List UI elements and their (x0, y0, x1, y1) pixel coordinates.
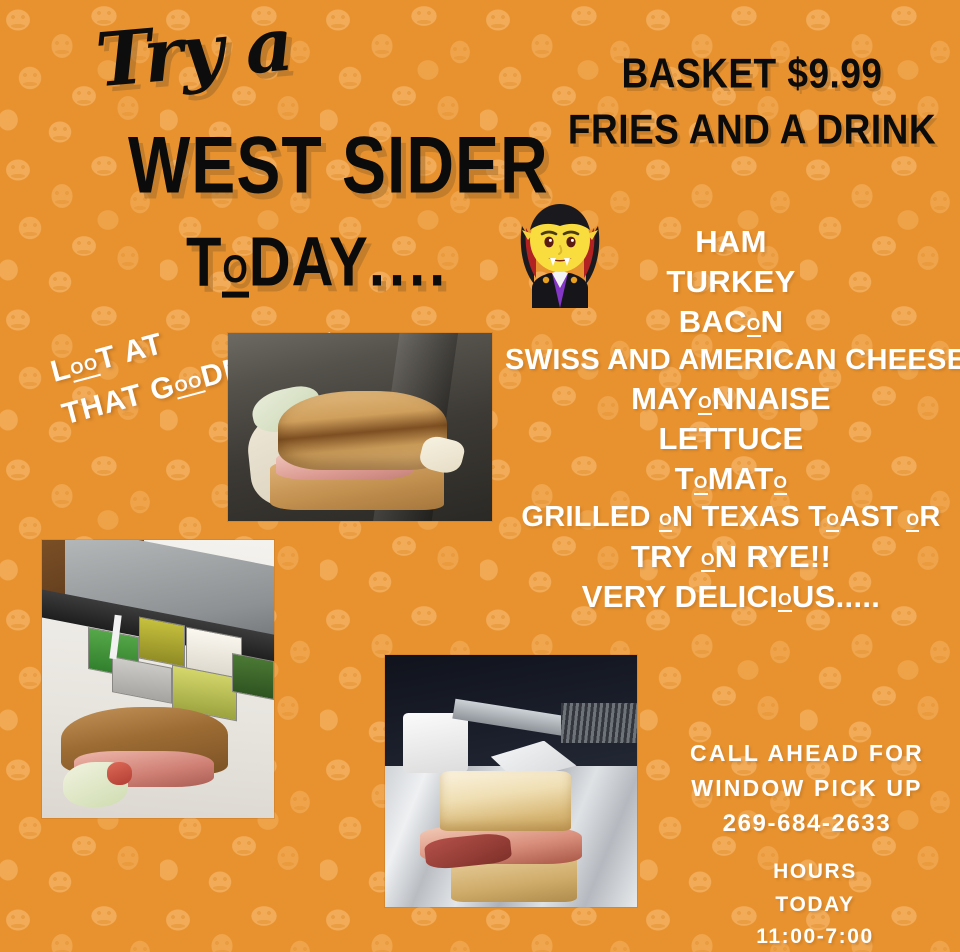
ingredient-item: MAYONNAISE (505, 379, 957, 419)
pan-olives (232, 653, 274, 700)
hours-block: HOURS TODAY 11:00-7:00 (690, 856, 940, 952)
ingredient-item: GRILLED ON TEXAS TOAST OR (505, 499, 957, 536)
pan-banana-peppers (139, 616, 185, 667)
stylised-o-glyph: O (698, 394, 712, 415)
today-ellipsis: .... (369, 222, 449, 302)
hours-title: HOURS (690, 856, 940, 889)
contact-block: CALL AHEAD FOR WINDOW PICK UP 269-684-26… (668, 736, 946, 842)
today-stylised-o: O (222, 249, 248, 298)
call-ahead-line-1: CALL AHEAD FOR (668, 736, 946, 771)
price-basket-line: BASKET $9.99 (560, 46, 944, 102)
photo-grilled-sandwich-on-griddle (228, 333, 492, 521)
ingredient-item: TOMATO (505, 459, 957, 499)
price-block: BASKET $9.99 FRIES AND A DRINK (560, 46, 944, 158)
ingredient-item: BACON (505, 302, 957, 342)
ingredient-item: HAM (505, 222, 957, 262)
ingredient-item: LETTUCE (505, 419, 957, 459)
hours-day: TODAY (690, 889, 940, 922)
ingredient-item: VERY DELICIOUS..... (505, 577, 957, 617)
ingredient-item: TRY ON RYE!! (505, 537, 957, 577)
ingredient-list: HAM TURKEY BACON SWISS AND AMERICAN CHEE… (505, 218, 957, 617)
paper-roll (403, 713, 469, 773)
photo-rye-sandwich-prep-station (42, 540, 274, 818)
ingredient-item: TURKEY (505, 262, 957, 302)
stylised-o-glyph: O (774, 474, 788, 495)
call-ahead-line-2: WINDOW PICK UP (668, 771, 946, 806)
stylised-o-glyph: O (659, 512, 672, 532)
stylised-o-glyph: O (747, 316, 761, 337)
tomato (107, 762, 133, 784)
photo-texas-toast-on-foil (385, 655, 637, 907)
stylised-o-glyph: O (701, 551, 715, 572)
phone-number[interactable]: 269-684-2633 (668, 806, 946, 842)
today-prefix: T (186, 222, 222, 302)
stylised-o-glyph: O (826, 512, 839, 532)
top-texas-toast (440, 771, 571, 831)
stylised-o-glyph: O (906, 512, 919, 532)
grill-grate (561, 703, 637, 743)
headline-west-sider: WEST SIDER (128, 118, 549, 211)
ingredient-item: SWISS AND AMERICAN CHEESE (505, 342, 957, 379)
hours-range: 11:00-7:00 (690, 921, 940, 952)
stylised-o-glyph: O (778, 591, 792, 612)
price-includes-line: FRIES AND A DRINK (560, 102, 944, 158)
stylised-o-glyph: O (694, 474, 708, 495)
headline-script-try-a: Try a (93, 8, 294, 99)
promo-flyer: Try a WEST SIDER TODAY.... BASKET $9.99 … (0, 0, 960, 952)
